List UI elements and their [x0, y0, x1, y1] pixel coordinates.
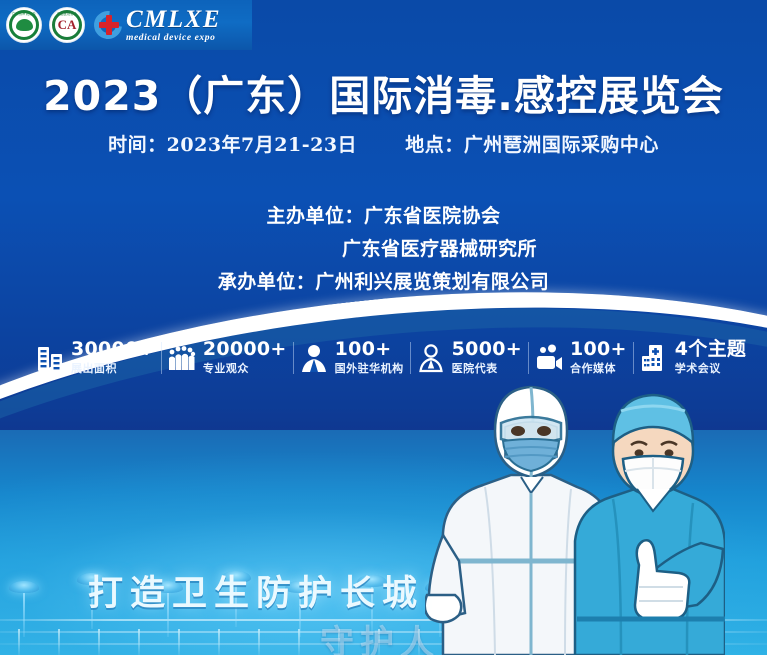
stat-hospital-delegates: 5000+ 医院代表 [411, 340, 528, 377]
time-label: 时间： [108, 134, 167, 156]
stat-number: 4个主题 [675, 338, 746, 360]
page-title: 2023（广东）国际消毒.感控展览会 [0, 62, 767, 122]
g-cross-logo-icon [94, 11, 122, 39]
stat-academic-conferences: 4个主题 学术会议 [634, 340, 752, 377]
stat-number: 5000+ [452, 338, 522, 360]
stat-number: 30000+ [71, 338, 155, 360]
stat-label: 专业观众 [203, 362, 249, 375]
stat-label: 学术会议 [675, 362, 721, 375]
scrub-nurse-figure [575, 395, 725, 655]
host-row-1: 主办单位：广东省医院协会 [0, 200, 767, 233]
stats-bar: 30000+ 展出面积 20000+ 专业观众 100+ [30, 333, 737, 383]
organizer-label: 承办单位： [218, 271, 316, 293]
seal-guangdong-hospital-association: 广东省医院协会 [6, 7, 42, 43]
brand-name: CMLXE [126, 7, 221, 32]
organizer-block: 主办单位：广东省医院协会 广东省医疗器械研究所 承办单位：广州利兴展览策划有限公… [0, 200, 767, 299]
stat-label: 展出面积 [71, 362, 117, 375]
medical-workers-illustration [425, 365, 725, 655]
stat-label: 合作媒体 [570, 362, 616, 375]
suit-person-icon [300, 343, 328, 373]
seal-china-association: 中国医院协会 CA [49, 7, 85, 43]
stat-label: 国外驻华机构 [335, 362, 404, 375]
stat-foreign-institutions: 100+ 国外驻华机构 [294, 340, 410, 377]
building-icon [36, 343, 64, 373]
organizer-row: 承办单位：广州利兴展览策划有限公司 [0, 266, 767, 299]
hospital-icon [640, 343, 668, 373]
event-meta: 时间：2023年7月21-23日 地点：广州琶洲国际采购中心 [0, 130, 767, 157]
brand-tagline: medical device expo [126, 34, 221, 44]
seal-initials: CA [57, 15, 77, 35]
host-value-1: 广东省医院协会 [364, 205, 501, 227]
doctor-icon [417, 343, 445, 373]
cmlxe-brand-logo: CMLXE medical device expo [94, 7, 221, 44]
stat-professional-visitors: 20000+ 专业观众 [162, 340, 293, 377]
stat-number: 100+ [570, 338, 627, 360]
slogan-main: 打造卫生防护长城 [88, 565, 424, 616]
stat-exhibition-area: 30000+ 展出面积 [30, 340, 161, 377]
poster-canvas: 守护人民生命健康 [0, 0, 767, 655]
stat-number: 100+ [335, 338, 392, 360]
stat-number: 20000+ [203, 338, 287, 360]
place-label: 地点： [405, 134, 464, 156]
stat-label: 医院代表 [452, 362, 498, 375]
place-value: 广州琶洲国际采购中心 [464, 134, 659, 156]
time-value: 2023年7月21-23日 [167, 134, 357, 156]
logo-strip: 广东省医院协会 中国医院协会 CA CMLXE medical device e… [0, 0, 252, 50]
host-row-2: 广东省医疗器械研究所 [0, 233, 767, 266]
host-value-2: 广东省医疗器械研究所 [342, 238, 537, 260]
host-label: 主办单位： [266, 205, 364, 227]
video-camera-icon [535, 343, 563, 373]
leaf-icon [16, 19, 33, 31]
organizer-value: 广州利兴展览策划有限公司 [315, 271, 549, 293]
crowd-icon [168, 343, 196, 373]
stat-media-partners: 100+ 合作媒体 [529, 340, 633, 377]
